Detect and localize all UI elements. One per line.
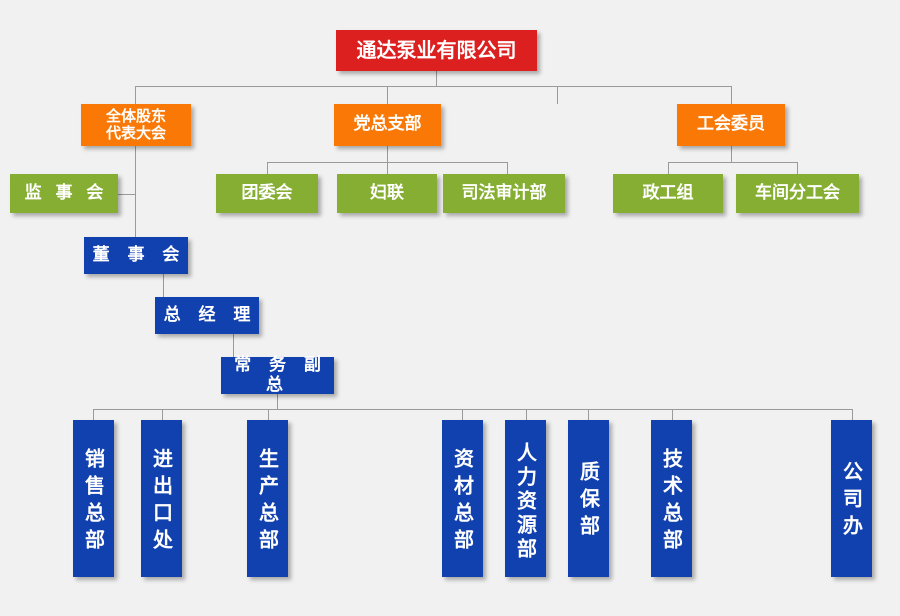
node-root[interactable]: 通达泵业有限公司: [336, 30, 537, 71]
connector-dept-drop-3: [268, 409, 269, 420]
node-supervisory-board[interactable]: 监 事 会: [10, 174, 118, 213]
connector-union-bus: [668, 162, 798, 163]
node-political-work[interactable]: 政工组: [613, 174, 723, 213]
node-department-production[interactable]: 生产总部: [247, 420, 288, 577]
node-department-materials[interactable]: 资材总部: [442, 420, 483, 577]
node-youth-league[interactable]: 团委会: [216, 174, 318, 213]
node-union-committee[interactable]: 工会委员: [677, 104, 785, 146]
connector-to-union: [557, 86, 558, 104]
connector-dept-drop-1: [93, 409, 94, 420]
connector-to-shareholders: [135, 86, 136, 104]
org-chart: 通达泵业有限公司 全体股东 代表大会 党总支部 工会委员 监 事 会 团委会 妇…: [0, 0, 900, 616]
connector-level2-bus-right: [557, 86, 732, 87]
connector-departments-bus: [93, 409, 853, 410]
connector-union-down: [731, 146, 732, 162]
node-shareholders[interactable]: 全体股东 代表大会: [81, 104, 191, 146]
connector-evp-down: [277, 394, 278, 409]
node-board-of-directors[interactable]: 董 事 会: [84, 237, 188, 274]
node-department-company-office[interactable]: 公司办: [831, 420, 872, 577]
connector-to-judicial: [507, 162, 508, 174]
connector-root-down: [436, 71, 437, 86]
connector-to-workshop: [797, 162, 798, 174]
node-department-quality-assurance[interactable]: 质保部: [568, 420, 609, 577]
connector-to-women: [387, 162, 388, 174]
node-party-branch[interactable]: 党总支部: [334, 104, 441, 146]
connector-dept-drop-7: [672, 409, 673, 420]
connector-party-down: [387, 146, 388, 162]
node-department-technology[interactable]: 技术总部: [651, 420, 692, 577]
connector-to-union-drop: [731, 86, 732, 104]
connector-dept-drop-6: [588, 409, 589, 420]
connector-to-youth: [267, 162, 268, 174]
node-judicial-audit[interactable]: 司法审计部: [443, 174, 565, 213]
node-department-import-export[interactable]: 进出口处: [141, 420, 182, 577]
connector-to-political: [668, 162, 669, 174]
node-womens-federation[interactable]: 妇联: [337, 174, 437, 213]
connector-level2-bus: [135, 86, 558, 87]
node-general-manager[interactable]: 总 经 理: [155, 297, 259, 334]
node-department-human-resources[interactable]: 人力资源部: [505, 420, 546, 577]
connector-dept-drop-8: [852, 409, 853, 420]
node-executive-vp[interactable]: 常 务 副 总: [221, 357, 334, 394]
connector-shareholders-spine: [135, 146, 136, 237]
node-workshop-union[interactable]: 车间分工会: [736, 174, 859, 213]
connector-to-supervisory: [118, 194, 136, 195]
connector-dept-drop-5: [526, 409, 527, 420]
connector-dept-drop-2: [162, 409, 163, 420]
connector-to-party: [387, 86, 388, 104]
node-department-sales[interactable]: 销售总部: [73, 420, 114, 577]
connector-dept-drop-4: [462, 409, 463, 420]
